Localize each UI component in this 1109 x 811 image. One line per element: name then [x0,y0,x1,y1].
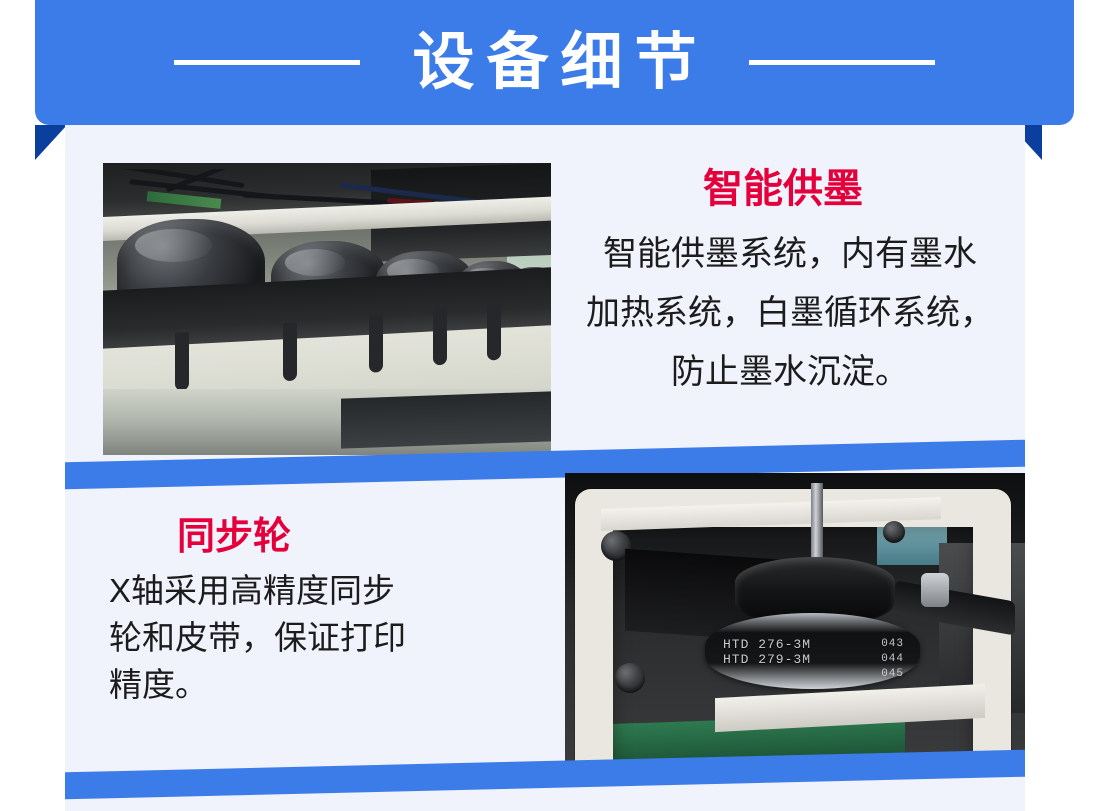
tray-notch [283,323,297,382]
body-line: 防止墨水沉淀。 [671,353,909,391]
belt-number-text: 043 044 045 [881,637,904,682]
belt-marking-line: HTD 276-3M [723,637,811,652]
pulley-shaft [811,483,823,565]
body-line: 精度。 [109,666,208,703]
pulley-lower-flange: HTD 276-3M HTD 279-3M 043 044 045 [705,613,920,689]
belt-number: 043 [881,638,904,650]
body-line: 加热系统，白墨循环系统， [586,294,994,332]
section-timing-pulley: 同步轮 X轴采用高精度同步 轮和皮带，保证打印 精度。 [65,473,1025,773]
tray-notch [369,314,383,373]
horizontal-rule-right-icon [749,60,935,65]
banner-fold-left-icon [35,125,67,160]
tray-notch [487,302,501,361]
timing-pulley-text: 同步轮 X轴采用高精度同步 轮和皮带，保证打印 精度。 [65,473,535,708]
smart-ink-supply-text: 智能供墨 智能供墨系统，内有墨水 加热系统，白墨循环系统， 防止墨水沉淀。 [551,163,1025,402]
header-banner-content: 设备细节 [35,0,1074,125]
belt-number: 045 [881,668,904,680]
page-title: 设备细节 [400,32,708,94]
ink-photo-bench-shadow [341,391,551,448]
bolt [883,521,905,543]
body-line: 智能供墨系统，内有墨水 [603,235,977,273]
section-body-timing-pulley: X轴采用高精度同步 轮和皮带，保证打印 精度。 [109,567,525,708]
product-detail-page: 设备细节 [0,0,1109,811]
tensioner-knob [921,573,949,607]
body-line: X轴采用高精度同步 [109,572,395,609]
belt-marking-line: HTD 279-3M [723,652,811,667]
tray-notch [175,332,189,391]
section-body-smart-ink-supply: 智能供墨系统，内有墨水 加热系统，白墨循环系统， 防止墨水沉淀。 [575,225,1005,402]
circuit-board [147,191,222,209]
content-panel: 智能供墨 智能供墨系统，内有墨水 加热系统，白墨循环系统， 防止墨水沉淀。 同步… [65,125,1025,811]
belt-number: 044 [881,653,904,665]
bolt [615,663,645,693]
header-banner: 设备细节 [35,0,1074,125]
timing-pulley-photo: HTD 276-3M HTD 279-3M 043 044 045 [565,473,1025,761]
tray-notch [433,307,447,366]
section-title-timing-pulley: 同步轮 [109,517,525,559]
section-smart-ink-supply: 智能供墨 智能供墨系统，内有墨水 加热系统，白墨循环系统， 防止墨水沉淀。 [65,163,1025,458]
section-title-smart-ink-supply: 智能供墨 [575,167,1005,211]
body-line: 轮和皮带，保证打印 [109,619,406,656]
belt-marking-text: HTD 276-3M HTD 279-3M [723,637,908,667]
horizontal-rule-left-icon [174,60,360,65]
ink-supply-photo [103,163,551,455]
